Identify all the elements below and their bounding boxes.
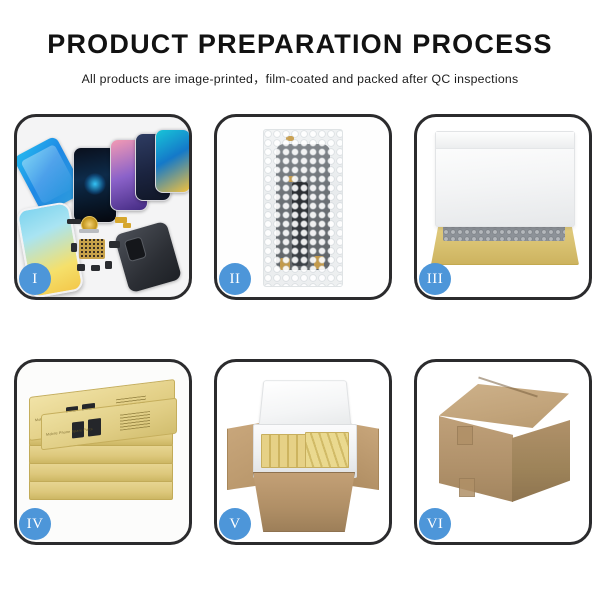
spare-part-icon xyxy=(109,241,120,248)
process-step-panel-5: V xyxy=(214,359,392,545)
process-step-panel-1: I xyxy=(14,114,192,300)
foam-cooler-lid-icon xyxy=(258,380,351,428)
spare-part-icon xyxy=(79,229,99,233)
stacked-box-icon xyxy=(29,462,173,482)
step-badge-2: II xyxy=(219,263,251,295)
box-text-lines xyxy=(120,411,150,431)
yellow-boxes-inside-icon xyxy=(305,432,349,468)
phone-backplate-icon xyxy=(114,221,182,294)
spare-part-icon xyxy=(67,219,81,224)
phone-screen-icon xyxy=(155,129,189,193)
step-badge-3: III xyxy=(419,263,451,295)
process-steps-grid: I II I xyxy=(14,114,586,539)
spare-part-icon xyxy=(77,264,85,271)
step-badge-1: I xyxy=(19,263,51,295)
carton-tape-patch-icon xyxy=(459,478,475,497)
process-step-panel-3: III xyxy=(414,114,592,300)
chip-array-icon xyxy=(79,239,105,259)
stacked-box-icon xyxy=(29,480,173,500)
header: PRODUCT PREPARATION PROCESS All products… xyxy=(0,0,600,87)
step-badge-6: VI xyxy=(419,508,451,540)
step-badge-5: V xyxy=(219,508,251,540)
spare-part-icon xyxy=(105,261,112,269)
page-subtitle: All products are image-printed，film-coat… xyxy=(0,69,600,87)
process-step-panel-2: II xyxy=(214,114,392,300)
white-foam-sheet-icon xyxy=(435,131,575,227)
flex-cable-icon xyxy=(123,223,131,228)
bubble-texture xyxy=(264,130,342,286)
carton-body-icon xyxy=(253,472,355,532)
spare-part-icon xyxy=(91,265,100,271)
process-step-panel-6: VI xyxy=(414,359,592,545)
page-title: PRODUCT PREPARATION PROCESS xyxy=(0,30,600,60)
carton-tape-patch-icon xyxy=(457,426,473,445)
carton-front-face-icon xyxy=(439,416,513,502)
bubble-wrap-package-icon xyxy=(263,129,343,287)
process-step-panel-4: Mobile Phone Spare Parts Mobile Phone Sp… xyxy=(14,359,192,545)
step-badge-4: IV xyxy=(19,508,51,540)
spare-part-icon xyxy=(71,243,77,252)
carton-side-face-icon xyxy=(512,420,570,502)
box-label-text: Mobile Phone Spare Parts xyxy=(46,427,93,437)
product-preparation-infographic: PRODUCT PREPARATION PROCESS All products… xyxy=(0,0,600,600)
